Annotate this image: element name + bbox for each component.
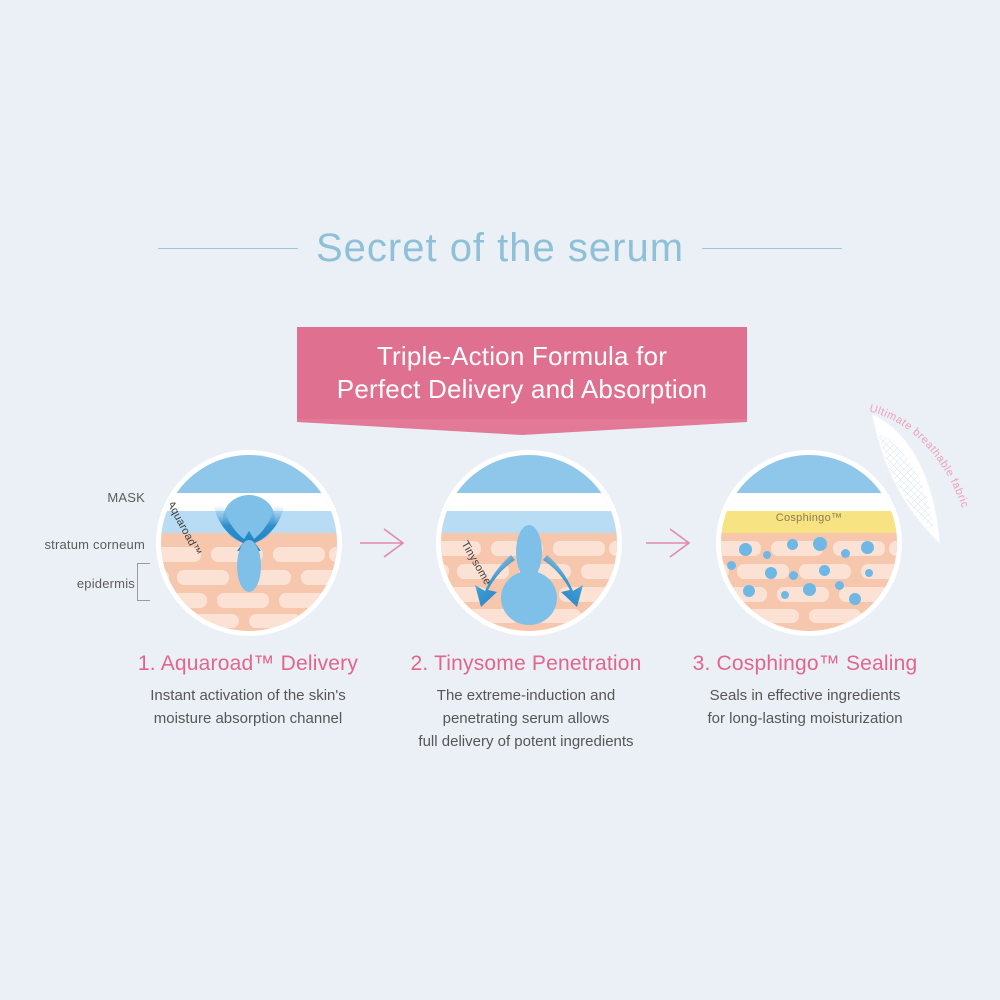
headline-line-1: Triple-Action Formula for bbox=[377, 340, 667, 373]
step-3-body: Seals in effective ingredients for long-… bbox=[655, 684, 955, 730]
serum-dot bbox=[765, 567, 777, 579]
serum-dot bbox=[743, 585, 755, 597]
step-caption-2: 2. Tinysome Penetration The extreme-indu… bbox=[376, 652, 676, 753]
headline-banner-body: Triple-Action Formula for Perfect Delive… bbox=[297, 327, 747, 419]
breathable-fabric-callout: Ultimate breathable fabric bbox=[848, 392, 1000, 572]
serum-dot bbox=[849, 593, 861, 605]
step-3-body-line: for long-lasting moisturization bbox=[655, 707, 955, 730]
step-3-title: 3. Cosphingo™ Sealing bbox=[655, 652, 955, 676]
step-1-title: 1. Aquaroad™ Delivery bbox=[98, 652, 398, 676]
serum-dot bbox=[813, 537, 827, 551]
title-rule-right bbox=[702, 248, 842, 249]
serum-dot bbox=[803, 583, 816, 596]
step-2-body: The extreme-induction and penetrating se… bbox=[376, 684, 676, 753]
diagram-circle-tinysome: Tinysome bbox=[441, 455, 617, 631]
step-2-body-line: The extreme-induction and bbox=[376, 684, 676, 707]
serum-dot bbox=[739, 543, 752, 556]
skin-cell bbox=[747, 609, 799, 623]
banner-ribbon-notch bbox=[297, 419, 747, 435]
skin-cell bbox=[839, 587, 891, 602]
step-arrow-2-to-3 bbox=[644, 522, 696, 564]
serum-dot bbox=[819, 565, 830, 576]
label-mask: MASK bbox=[107, 490, 145, 505]
label-epidermis: epidermis bbox=[77, 576, 135, 591]
step-3-body-line: Seals in effective ingredients bbox=[655, 684, 955, 707]
fabric-swatch-graphic: Ultimate breathable fabric bbox=[848, 392, 1000, 572]
skin-cell bbox=[737, 564, 789, 579]
serum-dot bbox=[781, 591, 789, 599]
headline-banner: Triple-Action Formula for Perfect Delive… bbox=[297, 327, 747, 437]
step-1-body-line: Instant activation of the skin's bbox=[98, 684, 398, 707]
serum-dot bbox=[727, 561, 736, 570]
page-title: Secret of the serum bbox=[316, 226, 684, 271]
step-2-body-line: full delivery of potent ingredients bbox=[376, 730, 676, 753]
headline-line-2: Perfect Delivery and Absorption bbox=[337, 373, 707, 406]
title-rule-left bbox=[158, 248, 298, 249]
step-arrow-1-to-2 bbox=[358, 522, 410, 564]
page-title-row: Secret of the serum bbox=[0, 218, 1000, 278]
step-2-body-line: penetrating serum allows bbox=[376, 707, 676, 730]
serum-dot bbox=[763, 551, 771, 559]
step-2-title: 2. Tinysome Penetration bbox=[376, 652, 676, 676]
step-1-body-line: moisture absorption channel bbox=[98, 707, 398, 730]
epidermis-bracket bbox=[137, 563, 150, 601]
step-caption-3: 3. Cosphingo™ Sealing Seals in effective… bbox=[655, 652, 955, 730]
label-stratum-corneum: stratum corneum bbox=[44, 537, 145, 552]
serum-dot bbox=[789, 571, 798, 580]
skin-cell bbox=[809, 609, 861, 623]
serum-dot bbox=[787, 539, 798, 550]
step-caption-1: 1. Aquaroad™ Delivery Instant activation… bbox=[98, 652, 398, 730]
step-1-body: Instant activation of the skin's moistur… bbox=[98, 684, 398, 730]
serum-dot bbox=[835, 581, 844, 590]
diagram-circle-aquaroad: Aquaroad™ bbox=[161, 455, 337, 631]
infographic-canvas: Secret of the serum Triple-Action Formul… bbox=[0, 0, 1000, 1000]
